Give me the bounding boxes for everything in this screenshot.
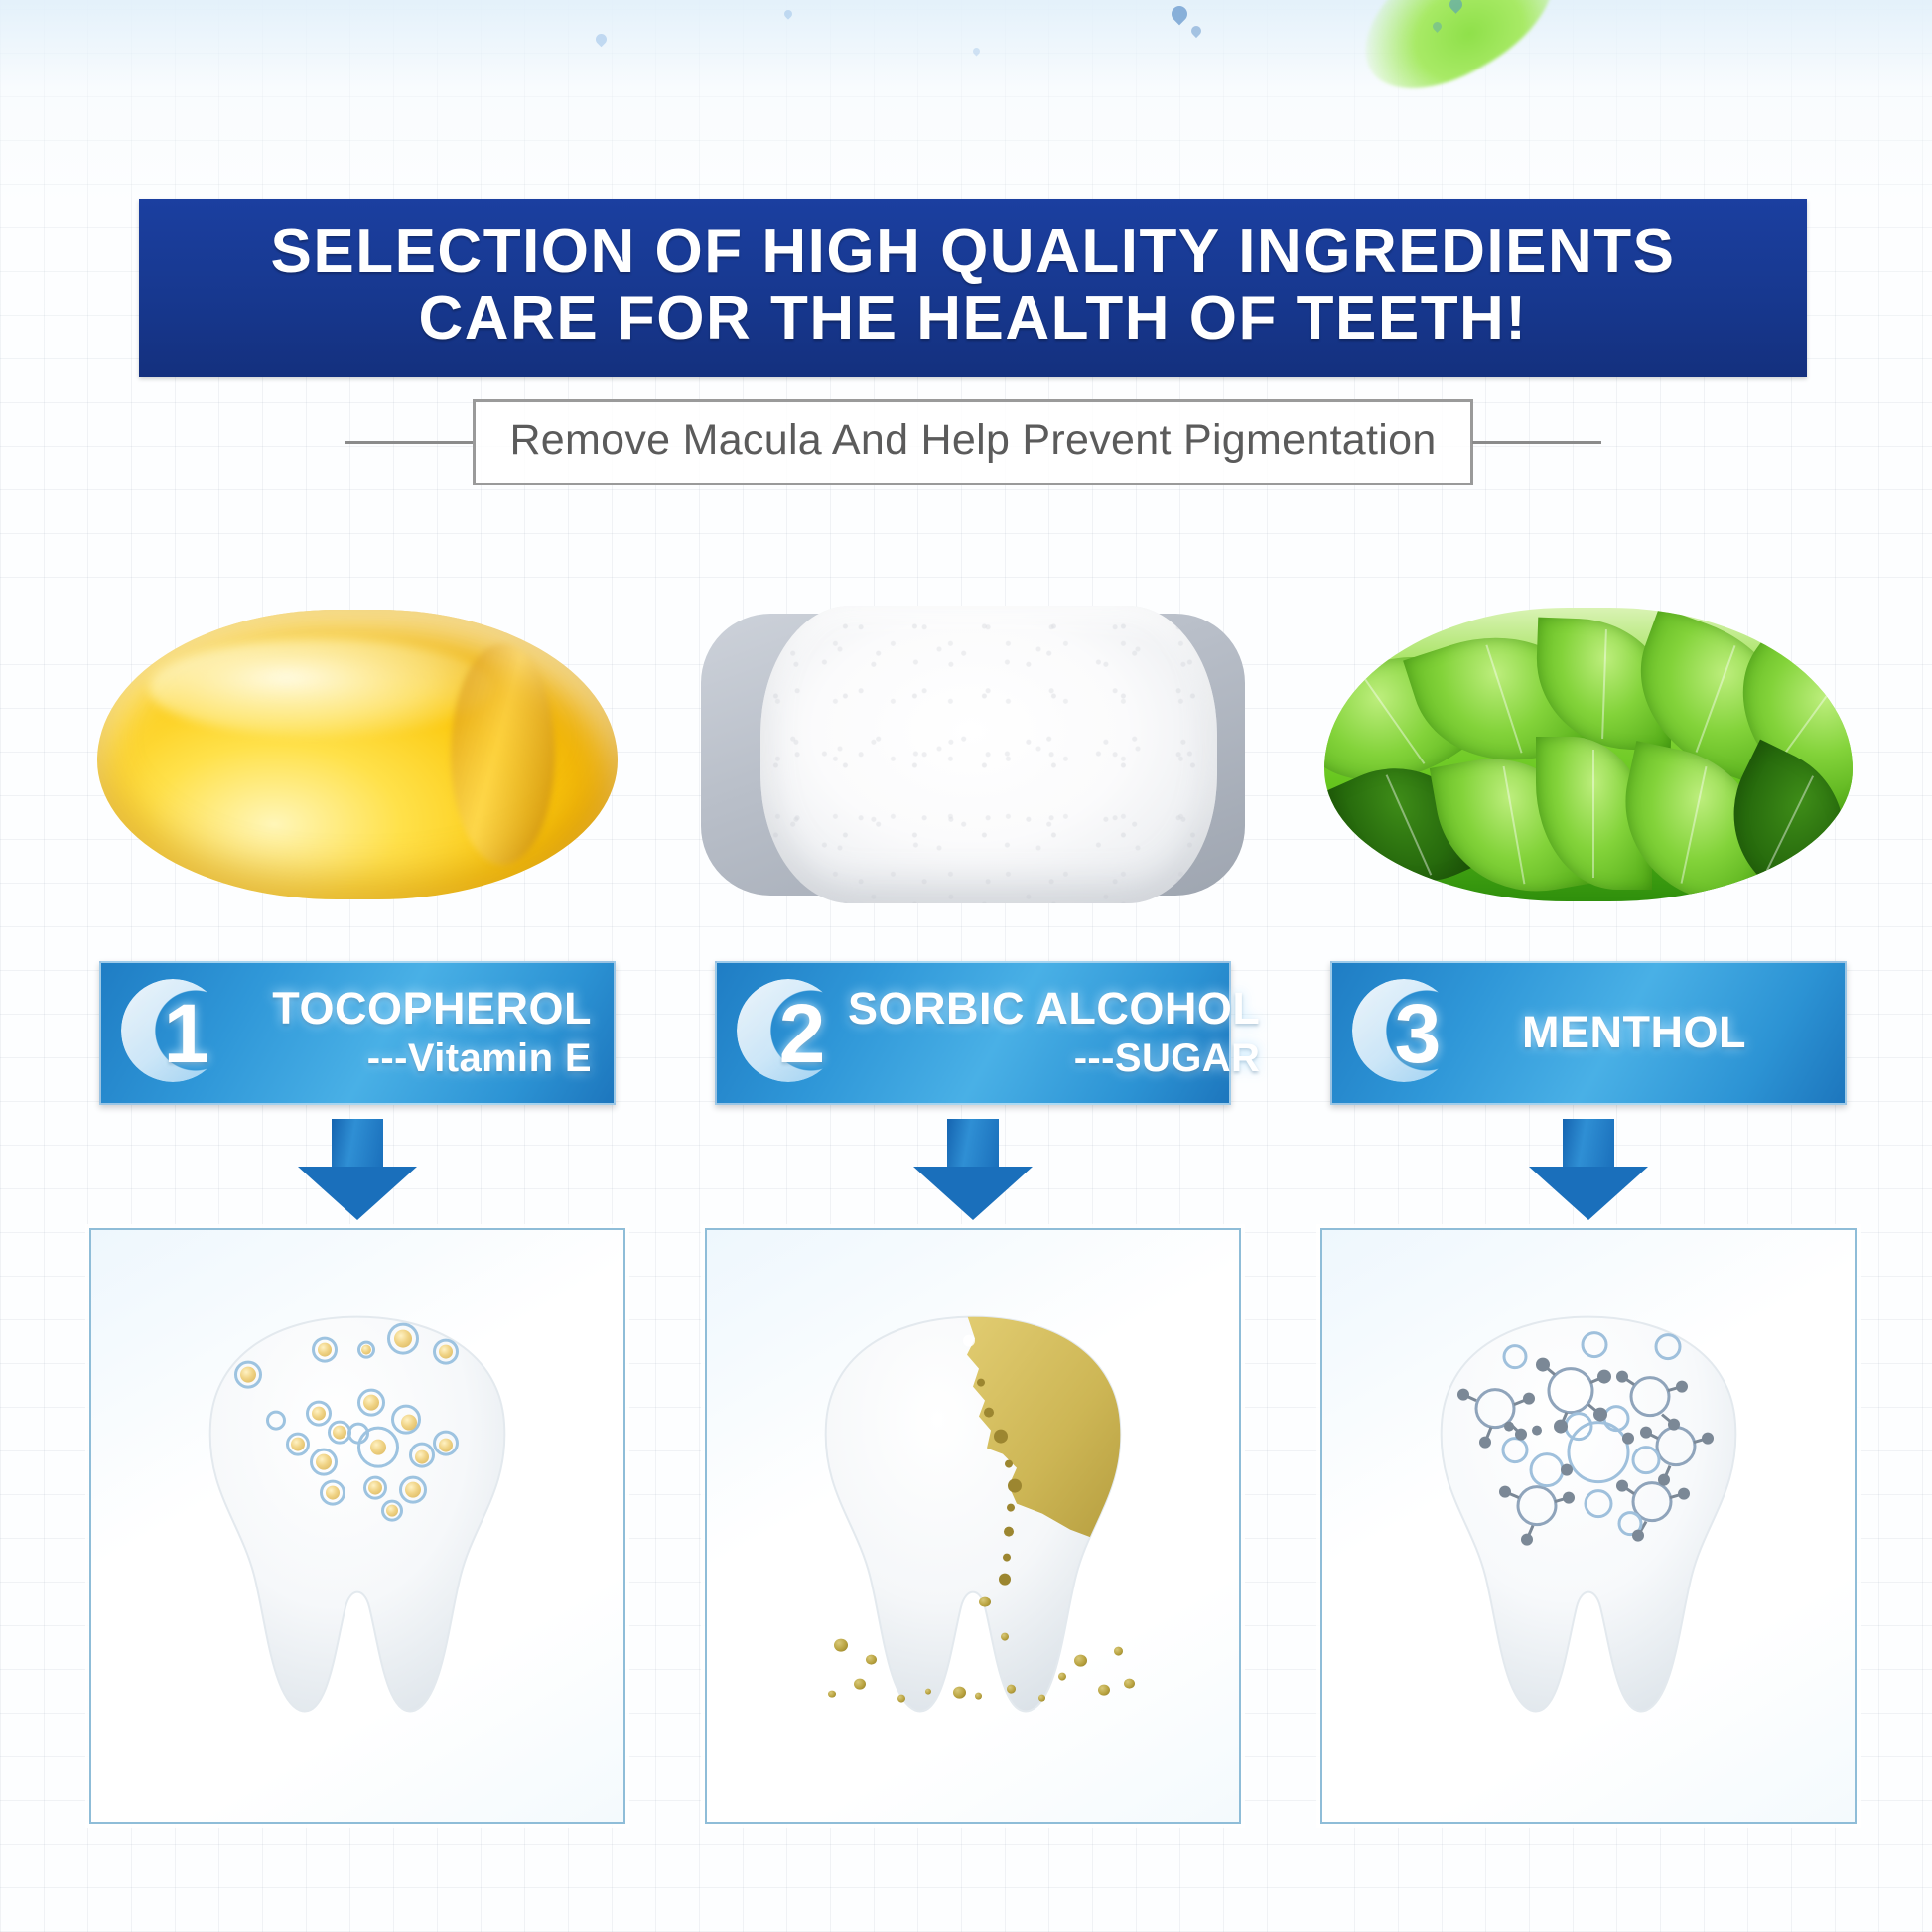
number-badge-2: 2 xyxy=(731,975,848,1092)
vitamin-bubble xyxy=(318,1343,332,1357)
water-droplet-decoration xyxy=(782,8,793,19)
plaque-crumb xyxy=(828,1691,836,1698)
mint-leaves-photo xyxy=(1311,596,1866,913)
ingredient-column-3: 3 MENTHOL xyxy=(1311,596,1866,1876)
arrow-head xyxy=(298,1167,417,1220)
plaque-crumb xyxy=(854,1679,866,1690)
water-droplet-decoration xyxy=(1169,3,1191,26)
tooth-svg xyxy=(804,1310,1142,1726)
ingredient-label-2[interactable]: 2 SORBIC ALCOHOL ---SUGAR xyxy=(715,961,1231,1105)
arrow-row-3 xyxy=(1311,1109,1866,1228)
page-title-line-2: CARE FOR THE HEALTH OF TEETH! xyxy=(419,286,1528,352)
capsule-highlight xyxy=(149,638,492,737)
arrow-stem xyxy=(947,1119,999,1171)
tooth-shape xyxy=(804,1310,1142,1726)
arrow-head xyxy=(913,1167,1033,1220)
green-leaf-decoration xyxy=(1339,0,1579,113)
ingredient-label-3[interactable]: 3 MENTHOL xyxy=(1330,961,1847,1105)
label-text-block-3: MENTHOL xyxy=(1463,1008,1845,1057)
vitamin-bubble xyxy=(368,1481,382,1495)
ingredient-columns: 1 TOCOPHEROL ---Vitamin E xyxy=(79,596,1853,1876)
arrow-stem xyxy=(1563,1119,1614,1171)
subtitle-row: Remove Macula And Help Prevent Pigmentat… xyxy=(139,397,1807,486)
plaque-crumb xyxy=(1001,1633,1009,1641)
subtitle-rule-left xyxy=(345,441,474,444)
label-text-block-2: SORBIC ALCOHOL ---SUGAR xyxy=(848,984,1282,1081)
vitamin-bubble xyxy=(386,1505,398,1517)
vitamin-bubble xyxy=(439,1345,453,1359)
ingredient-column-2: 2 SORBIC ALCOHOL ---SUGAR xyxy=(695,596,1251,1876)
plaque-crumb xyxy=(897,1695,905,1703)
arrow-row-1 xyxy=(79,1109,635,1228)
page-title-banner: SELECTION OF HIGH QUALITY INGREDIENTS CA… xyxy=(139,199,1807,377)
vitamin-bubble xyxy=(312,1407,326,1421)
vitamin-bubble xyxy=(439,1439,453,1452)
plaque-crumb xyxy=(1114,1647,1123,1656)
arrow-head xyxy=(1529,1167,1648,1220)
vitamin-bubble xyxy=(415,1450,429,1464)
powder-mound xyxy=(760,606,1217,903)
ingredient-column-1: 1 TOCOPHEROL ---Vitamin E xyxy=(79,596,635,1876)
tooth-with-vitamin-bubbles-illustration xyxy=(89,1228,625,1824)
vitamin-bubble xyxy=(394,1330,412,1348)
subtitle-text: Remove Macula And Help Prevent Pigmentat… xyxy=(509,416,1436,465)
arrow-stem xyxy=(332,1119,383,1171)
mint-shape xyxy=(1311,596,1866,913)
vitamin-bubble xyxy=(333,1426,346,1440)
label-text-block-1: TOCOPHEROL ---Vitamin E xyxy=(232,984,614,1081)
plaque-crumb xyxy=(953,1687,966,1699)
vitamin-bubble xyxy=(326,1486,340,1500)
subtitle-box: Remove Macula And Help Prevent Pigmentat… xyxy=(473,399,1472,485)
arrow-row-2 xyxy=(695,1109,1251,1228)
sorbitol-white-powder-photo xyxy=(695,596,1251,913)
ingredient-name-3: MENTHOL xyxy=(1522,1008,1746,1057)
powder-shape xyxy=(695,596,1251,913)
water-droplet-decoration xyxy=(594,32,610,48)
tooth-svg xyxy=(1420,1310,1757,1726)
vitamin-bubble xyxy=(240,1367,256,1383)
number-label-1: 1 xyxy=(115,975,232,1092)
tooth-shape xyxy=(189,1310,526,1726)
tooth-with-menthol-molecules-illustration xyxy=(1320,1228,1857,1824)
plaque-crumb xyxy=(1007,1685,1016,1694)
capsule-seam xyxy=(451,644,555,865)
ingredient-name-1: TOCOPHEROL xyxy=(272,984,592,1034)
plaque-crumb xyxy=(1124,1679,1135,1689)
plaque-crumb xyxy=(925,1689,931,1695)
page-title-line-1: SELECTION OF HIGH QUALITY INGREDIENTS xyxy=(271,219,1676,286)
down-arrow-1 xyxy=(298,1119,417,1218)
ingredient-label-1[interactable]: 1 TOCOPHEROL ---Vitamin E xyxy=(99,961,616,1105)
number-badge-1: 1 xyxy=(115,975,232,1092)
tooth-with-stain-peeling-illustration xyxy=(705,1228,1241,1824)
water-droplet-decoration xyxy=(972,47,982,57)
down-arrow-3 xyxy=(1529,1119,1648,1218)
tooth-shape xyxy=(1420,1310,1757,1726)
capsule-body xyxy=(97,610,618,899)
powder-grain-texture xyxy=(760,606,1217,903)
plaque-crumb xyxy=(1038,1695,1045,1702)
vitamin-e-softgel-capsule-photo xyxy=(79,596,635,913)
vitamin-bubble xyxy=(370,1440,386,1455)
vitamin-bubble xyxy=(363,1395,379,1411)
ingredient-alias-2: ---SUGAR xyxy=(1074,1035,1261,1082)
water-droplet-decoration xyxy=(1447,0,1464,14)
plaque-crumb xyxy=(1058,1673,1066,1681)
plaque-crumb xyxy=(975,1693,982,1700)
vitamin-bubble xyxy=(266,1411,286,1431)
mint-leaf-cluster xyxy=(1324,608,1853,901)
vitamin-bubble xyxy=(361,1345,371,1355)
water-droplet-decoration xyxy=(1189,24,1203,38)
vitamin-bubble xyxy=(291,1438,305,1451)
plaque-crumb xyxy=(866,1655,877,1665)
subtitle-rule-right xyxy=(1472,441,1601,444)
vitamin-bubble xyxy=(316,1454,332,1470)
vitamin-bubble xyxy=(405,1482,421,1498)
water-droplet-decoration xyxy=(1431,20,1444,33)
plaque-crumb xyxy=(1098,1685,1110,1696)
down-arrow-2 xyxy=(913,1119,1033,1218)
plaque-crumb xyxy=(979,1597,991,1607)
plaque-crumb xyxy=(1074,1655,1087,1667)
number-label-2: 2 xyxy=(731,975,848,1092)
ingredients-infographic-page: SELECTION OF HIGH QUALITY INGREDIENTS CA… xyxy=(0,0,1932,1932)
ingredient-name-2: SORBIC ALCOHOL xyxy=(848,984,1260,1034)
number-label-3: 3 xyxy=(1346,975,1463,1092)
plaque-crumb xyxy=(834,1639,848,1652)
capsule-shape xyxy=(79,596,635,913)
ingredient-alias-1: ---Vitamin E xyxy=(367,1035,592,1082)
number-badge-3: 3 xyxy=(1346,975,1463,1092)
vitamin-bubble xyxy=(401,1415,417,1431)
